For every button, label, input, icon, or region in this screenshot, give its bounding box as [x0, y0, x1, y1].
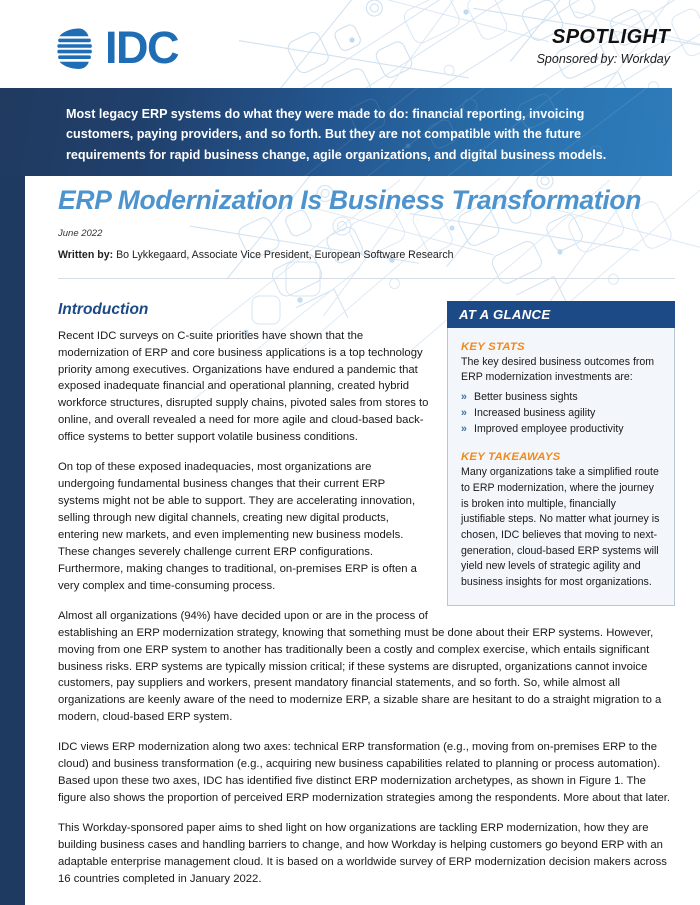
document-body: ERP Modernization Is Business Transforma… [25, 176, 700, 905]
key-stats-intro: The key desired business outcomes from E… [461, 355, 662, 386]
at-a-glance-box: AT A GLANCE KEY STATS The key desired bu… [447, 301, 675, 606]
byline-author: Bo Lykkegaard, Associate Vice President,… [116, 249, 453, 261]
header-divider [58, 278, 675, 279]
at-a-glance-heading: AT A GLANCE [447, 301, 675, 328]
byline: Written by: Bo Lykkegaard, Associate Vic… [58, 249, 678, 261]
key-stats-list: » Better business sights » Increased bus… [461, 389, 662, 437]
list-item: » Better business sights [461, 389, 662, 405]
paragraph: Almost all organizations (94%) have deci… [58, 608, 675, 727]
key-stats-label: KEY STATS [461, 341, 662, 353]
banner-text: Most legacy ERP systems do what they wer… [66, 104, 644, 165]
spotlight-label: SPOTLIGHT [537, 26, 670, 48]
list-item: » Improved employee productivity [461, 421, 662, 437]
sponsor-line: Sponsored by: Workday [537, 52, 670, 66]
left-accent-rail [0, 176, 25, 905]
paragraph: On top of these exposed inadequacies, mo… [58, 459, 456, 595]
idc-globe-icon [57, 24, 103, 70]
idc-logo: IDC [57, 24, 178, 70]
page-header: IDC SPOTLIGHT Sponsored by: Workday [0, 0, 700, 88]
content-flow: AT A GLANCE KEY STATS The key desired bu… [58, 301, 675, 888]
publish-date: June 2022 [58, 228, 678, 239]
paragraph: IDC views ERP modernization along two ax… [58, 739, 675, 807]
hero-banner: Most legacy ERP systems do what they wer… [0, 88, 672, 176]
byline-label: Written by: [58, 249, 113, 261]
spotlight-block: SPOTLIGHT Sponsored by: Workday [537, 26, 670, 66]
chevron-double-right-icon: » [461, 405, 467, 421]
list-item-label: Improved employee productivity [474, 423, 624, 435]
list-item-label: Increased business agility [474, 407, 595, 419]
idc-logo-text: IDC [105, 25, 178, 70]
chevron-double-right-icon: » [461, 421, 467, 437]
paragraph: This Workday-sponsored paper aims to she… [58, 820, 675, 888]
at-a-glance-body: KEY STATS The key desired business outco… [447, 328, 675, 606]
key-takeaways-text: Many organizations take a simplified rou… [461, 465, 662, 590]
key-takeaways-label: KEY TAKEAWAYS [461, 451, 662, 463]
list-item-label: Better business sights [474, 391, 578, 403]
chevron-double-right-icon: » [461, 389, 467, 405]
document-page: IDC SPOTLIGHT Sponsored by: Workday [0, 0, 700, 905]
paragraph: Recent IDC surveys on C-suite priorities… [58, 328, 456, 447]
list-item: » Increased business agility [461, 405, 662, 421]
page-title: ERP Modernization Is Business Transforma… [58, 186, 678, 216]
